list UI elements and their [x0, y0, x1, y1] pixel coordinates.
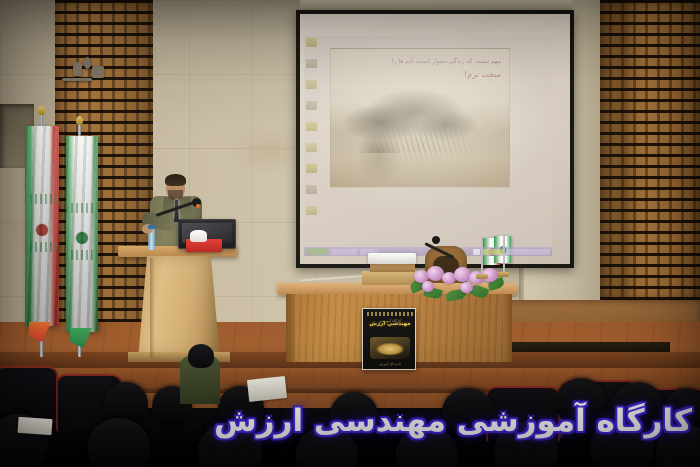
speaker-beard — [168, 190, 183, 200]
desktop-icon — [306, 38, 317, 47]
microphone-indicator-light — [196, 204, 200, 208]
slide-ground — [331, 153, 509, 187]
slide-photo: مهم نیست که زندگی دشوار است، آدم ها را س… — [330, 48, 510, 188]
desktop-icon — [306, 122, 317, 131]
desktop-icon — [306, 143, 317, 152]
taskbar-item — [473, 249, 480, 255]
flagpole-finial — [76, 116, 83, 125]
desktop-icon — [306, 80, 317, 89]
taskbar-item — [483, 249, 503, 255]
slide-text-line-1: مهم نیست که زندگی دشوار است، آدم ها را — [337, 55, 501, 68]
iran-flag-right — [66, 136, 98, 332]
flower-icon — [422, 281, 434, 292]
microphone-icon — [432, 236, 440, 244]
wall-conduit — [62, 78, 92, 81]
poster-title: مهندسی ارزش — [367, 321, 413, 328]
desktop-icon — [306, 206, 317, 215]
poster-header-ornament — [367, 312, 413, 316]
wall-fixture-c — [92, 66, 104, 78]
tissue-sheet — [190, 230, 207, 242]
document-box — [368, 253, 416, 264]
desk-flag-pole — [481, 236, 483, 276]
wall-fixture-b — [84, 57, 91, 69]
iran-flag-left — [25, 126, 59, 326]
flagpole-finial — [38, 106, 45, 115]
start-button-icon — [306, 248, 328, 255]
workshop-title-text: کارگاه آموزشی مهندسی ارزش — [214, 403, 692, 439]
water-bottle-cap — [148, 225, 155, 229]
wood-slat-acoustic-panel-right-inner — [600, 0, 624, 300]
wood-slat-acoustic-panel-right — [624, 0, 700, 300]
desktop-icon-column — [306, 38, 322, 227]
flag-cloth — [66, 136, 98, 332]
speaker-hair — [165, 174, 186, 186]
flower-arrangement — [408, 266, 508, 298]
wall-fixture-a — [73, 62, 82, 76]
taskbar-item — [331, 249, 357, 255]
seated-attendee-head — [188, 344, 214, 368]
projection-screen-surface: مهم نیست که زندگی دشوار است، آدم ها را س… — [300, 14, 570, 264]
projection-screen-frame: مهم نیست که زندگی دشوار است، آدم ها را س… — [296, 10, 574, 268]
flag-fold-shading — [66, 136, 98, 332]
desk-flag-base — [497, 272, 509, 277]
system-tray — [506, 249, 550, 255]
podium-edge-highlight — [150, 258, 155, 358]
flower-icon — [460, 282, 473, 293]
desktop-icon — [306, 185, 317, 194]
caption-overlay: کارگاه آموزشی مهندسی ارزش — [0, 396, 700, 446]
flag-fold-shading — [25, 126, 59, 326]
desk-flag-base — [476, 274, 488, 279]
flag-cloth — [25, 126, 59, 326]
desk-flag-pole — [503, 234, 505, 274]
desktop-icon — [306, 101, 317, 110]
slide-text-line-2: سخت ترم! — [337, 68, 501, 81]
photograph-scene: مهم نیست که زندگی دشوار است، آدم ها را س… — [0, 0, 700, 467]
desktop-icon — [306, 164, 317, 173]
desktop-icon — [306, 59, 317, 68]
slide-text-block: مهم نیست که زندگی دشوار است، آدم ها را س… — [337, 55, 501, 81]
